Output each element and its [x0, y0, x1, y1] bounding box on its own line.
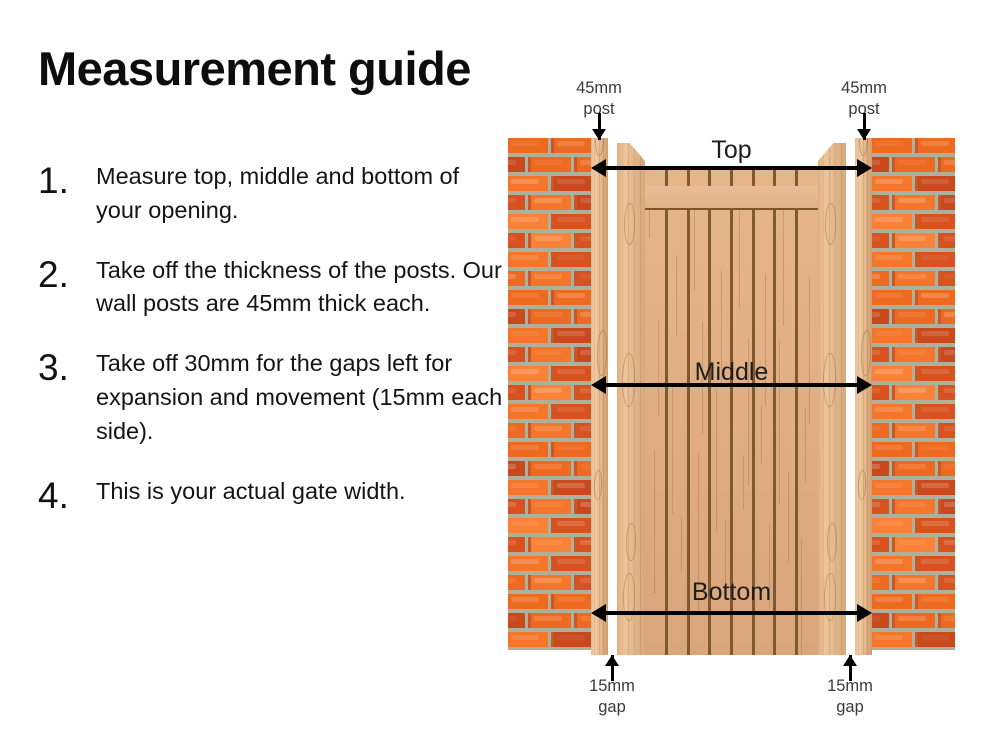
arrow-shaft [601, 611, 862, 615]
gate-diagram: Top Middle Bottom 45mm post 45mm [0, 0, 1000, 750]
measure-arrow-top [591, 157, 872, 179]
arrowhead-right [857, 159, 872, 177]
brick-wall-left [508, 138, 591, 650]
arrow-tip [592, 129, 606, 140]
callout-line-2: gap [567, 697, 657, 718]
callout-line-2: gap [805, 697, 895, 718]
arrow-shaft [601, 166, 862, 170]
callout-arrow-gap-right-icon [843, 655, 857, 681]
callout-arrow-gap-left-icon [605, 655, 619, 681]
callout-arrow-post-left-icon [592, 113, 606, 140]
gate-top-rail [645, 186, 818, 210]
callout-line-1: 45mm [554, 78, 644, 99]
measurement-guide-page: Measurement guide 1. Measure top, middle… [0, 0, 1000, 750]
arrowhead-right [857, 604, 872, 622]
brick-wall-right [872, 138, 955, 650]
arrow-shaft [601, 383, 862, 387]
measure-arrow-bottom [591, 602, 872, 624]
callout-gap-right: 15mm gap [805, 676, 895, 719]
measure-arrow-middle [591, 374, 872, 396]
callout-arrow-post-right-icon [857, 113, 871, 140]
callout-line-1: 45mm [819, 78, 909, 99]
arrow-stem [849, 655, 852, 681]
arrow-stem [611, 655, 614, 681]
callout-gap-left: 15mm gap [567, 676, 657, 719]
arrowhead-right [857, 376, 872, 394]
arrow-tip [857, 129, 871, 140]
